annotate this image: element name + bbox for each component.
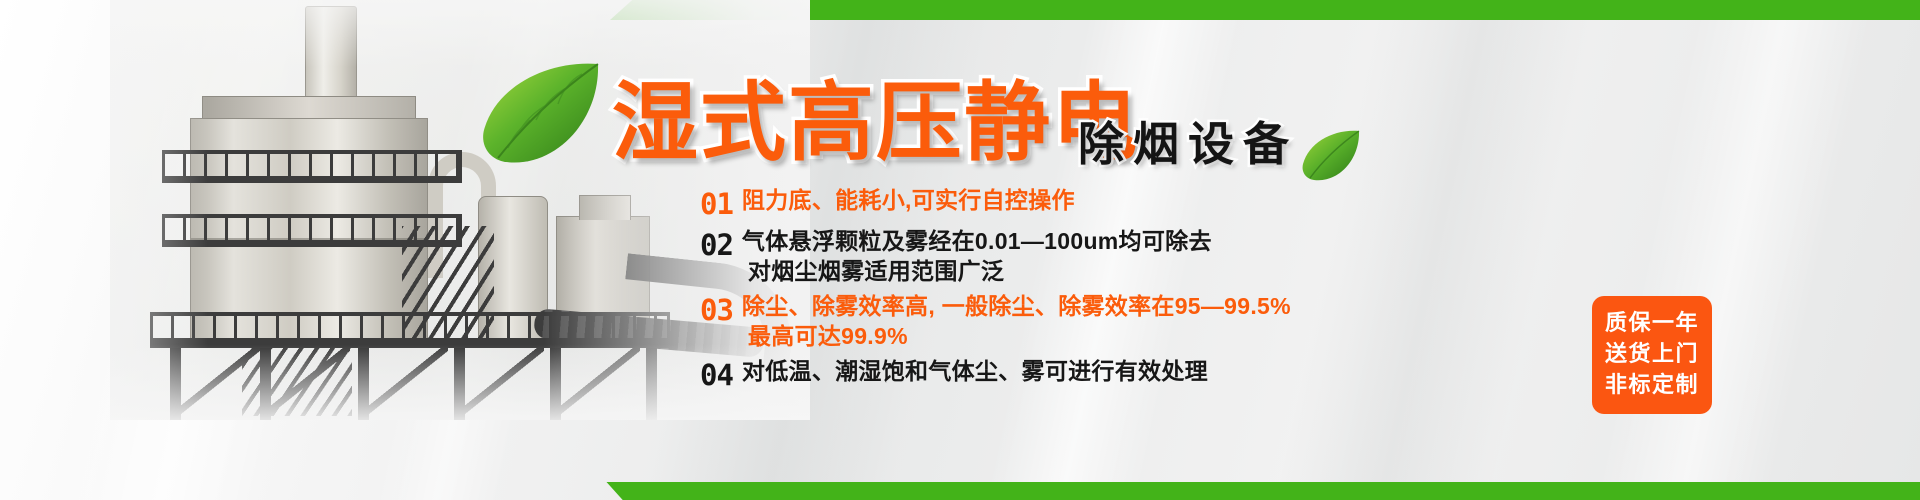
feature-line: 对低温、潮湿饱和气体尘、雾可进行有效处理: [742, 358, 1208, 384]
badge-line: 质保一年: [1592, 307, 1712, 338]
leaf-icon: [1300, 128, 1362, 182]
feature-line: 对烟尘烟雾适用范围广泛: [742, 257, 1212, 287]
feature-list: 01 阻力底、能耗小,可实行自控操作 02 气体悬浮颗粒及雾经在0.01—100…: [700, 186, 1300, 398]
feature-line: 最高可达99.9%: [742, 322, 1291, 352]
feature-number: 01: [700, 186, 733, 222]
guarantee-badge: 质保一年 送货上门 非标定制: [1592, 296, 1712, 414]
feature-text: 气体悬浮颗粒及雾经在0.01—100um均可除去 对烟尘烟雾适用范围广泛: [742, 227, 1212, 287]
badge-line: 送货上门: [1592, 338, 1712, 369]
list-item: 01 阻力底、能耗小,可实行自控操作: [700, 186, 1300, 222]
promo-banner: 湿式高压静电 除烟设备 01 阻力底、能耗小,可实行自控操作 02 气体悬浮颗粒…: [0, 0, 1920, 500]
feature-number: 02: [700, 227, 733, 263]
feature-number: 04: [700, 357, 733, 393]
feature-number: 03: [700, 292, 733, 328]
green-accent-top-inner: [1280, 0, 1920, 20]
background-streak: [1247, 0, 1623, 500]
badge-line: 非标定制: [1592, 369, 1712, 400]
feature-line: 除尘、除雾效率高, 一般除尘、除雾效率在95—99.5%: [742, 293, 1291, 319]
feature-line: 气体悬浮颗粒及雾经在0.01—100um均可除去: [742, 228, 1212, 254]
feature-text: 除尘、除雾效率高, 一般除尘、除雾效率在95—99.5% 最高可达99.9%: [742, 292, 1291, 352]
list-item: 04 对低温、潮湿饱和气体尘、雾可进行有效处理: [700, 357, 1300, 393]
page-subtitle: 除烟设备: [1078, 108, 1298, 174]
list-item: 03 除尘、除雾效率高, 一般除尘、除雾效率在95—99.5% 最高可达99.9…: [700, 292, 1300, 352]
page-title: 湿式高压静电: [612, 52, 1140, 177]
green-accent-bottom: [606, 482, 1920, 500]
leaf-icon: [478, 58, 604, 166]
feature-text: 阻力底、能耗小,可实行自控操作: [742, 186, 1075, 216]
feature-line: 阻力底、能耗小,可实行自控操作: [742, 187, 1075, 213]
feature-text: 对低温、潮湿饱和气体尘、雾可进行有效处理: [742, 357, 1208, 387]
background-streak: [1567, 0, 1904, 500]
list-item: 02 气体悬浮颗粒及雾经在0.01—100um均可除去 对烟尘烟雾适用范围广泛: [700, 227, 1300, 287]
